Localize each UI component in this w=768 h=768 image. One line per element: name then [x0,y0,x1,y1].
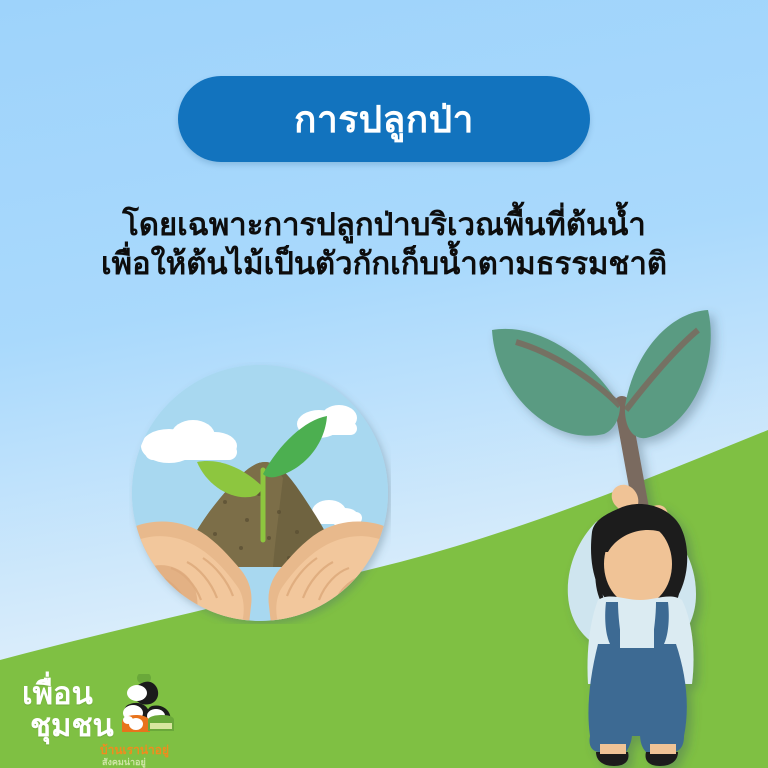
page-title: การปลูกป่า [294,101,474,138]
panda-family-mascot-icon [108,674,178,740]
shoe-left [596,752,628,766]
subtitle-line-2: เพื่อให้ต้นไม้เป็นตัวกักเก็บน้ำตามธรรมชา… [0,245,768,284]
subtitle-line-1: โดยเฉพาะการปลูกป่าบริเวณพื้นที่ต้นน้ำ [0,206,768,245]
leaf-right [625,310,711,438]
hands-holding-soil-illustration [129,362,391,624]
leaf-left [492,329,620,436]
logo-tagline-2: สังคมน่าอยู่ [102,758,146,767]
title-banner: การปลูกป่า [178,76,590,162]
logo-word-2: ชุมชน [30,710,114,741]
brand-logo: เพื่อน ชุมชน บ้านเราน่าอยู่ สังคมน่าอยู่ [16,672,192,764]
logo-word-1: เพื่อน [22,678,93,709]
person-holding-sapling-illustration [470,300,768,768]
shoe-right [646,752,678,766]
logo-tagline-1: บ้านเราน่าอยู่ [100,744,169,756]
poster-canvas: การปลูกป่า โดยเฉพาะการปลูกป่าบริเวณพื้นท… [0,0,768,768]
subtitle-block: โดยเฉพาะการปลูกป่าบริเวณพื้นที่ต้นน้ำ เพ… [0,206,768,284]
